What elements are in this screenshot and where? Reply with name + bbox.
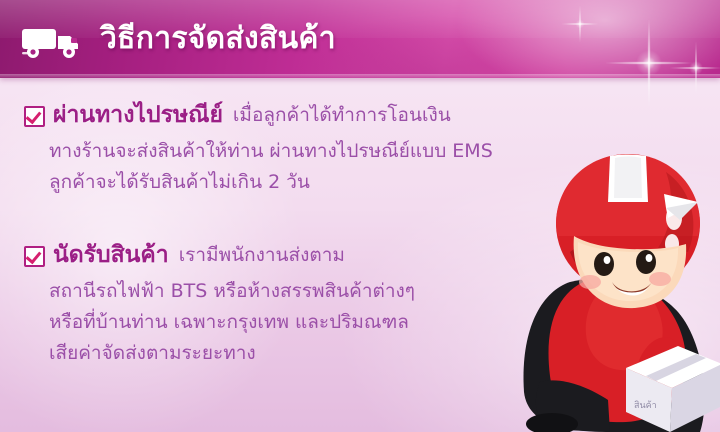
shipping-method-pickup: นัดรับสินค้า เรามีพนักงานส่งตาม สถานีรถไ… xyxy=(24,240,415,369)
method-heading: นัดรับสินค้า xyxy=(53,240,169,270)
header-bottom-highlight xyxy=(0,74,720,79)
shipping-methods-banner: วิธีการจัดส่งสินค้า ผ่านทางไปรษณีย์ เมื่… xyxy=(0,0,720,432)
delivery-boy-mascot: สินค้า xyxy=(420,132,720,432)
method-heading-row: นัดรับสินค้า เรามีพนักงานส่งตาม xyxy=(24,240,415,270)
method-line: สถานีรถไฟฟ้า BTS หรือห้างสรรพสินค้าต่างๆ xyxy=(49,276,415,307)
method-heading-row: ผ่านทางไปรษณีย์ เมื่อลูกค้าได้ทำการโอนเง… xyxy=(24,100,493,130)
svg-text:สินค้า: สินค้า xyxy=(634,400,657,411)
method-line: เสียค่าจัดส่งตามระยะทาง xyxy=(49,338,415,369)
page-title: วิธีการจัดส่งสินค้า xyxy=(100,16,336,62)
delivery-truck-icon xyxy=(22,26,88,60)
banner-header: วิธีการจัดส่งสินค้า xyxy=(0,0,720,78)
method-heading: ผ่านทางไปรษณีย์ xyxy=(53,100,223,130)
method-detail: เรามีพนักงานส่งตาม xyxy=(179,240,345,270)
checked-checkbox-icon[interactable] xyxy=(24,106,45,127)
method-detail: เมื่อลูกค้าได้ทำการโอนเงิน xyxy=(233,100,451,130)
method-line: หรือที่บ้านท่าน เฉพาะกรุงเทพ และปริมณฑล xyxy=(49,307,415,338)
checked-checkbox-icon[interactable] xyxy=(24,246,45,267)
